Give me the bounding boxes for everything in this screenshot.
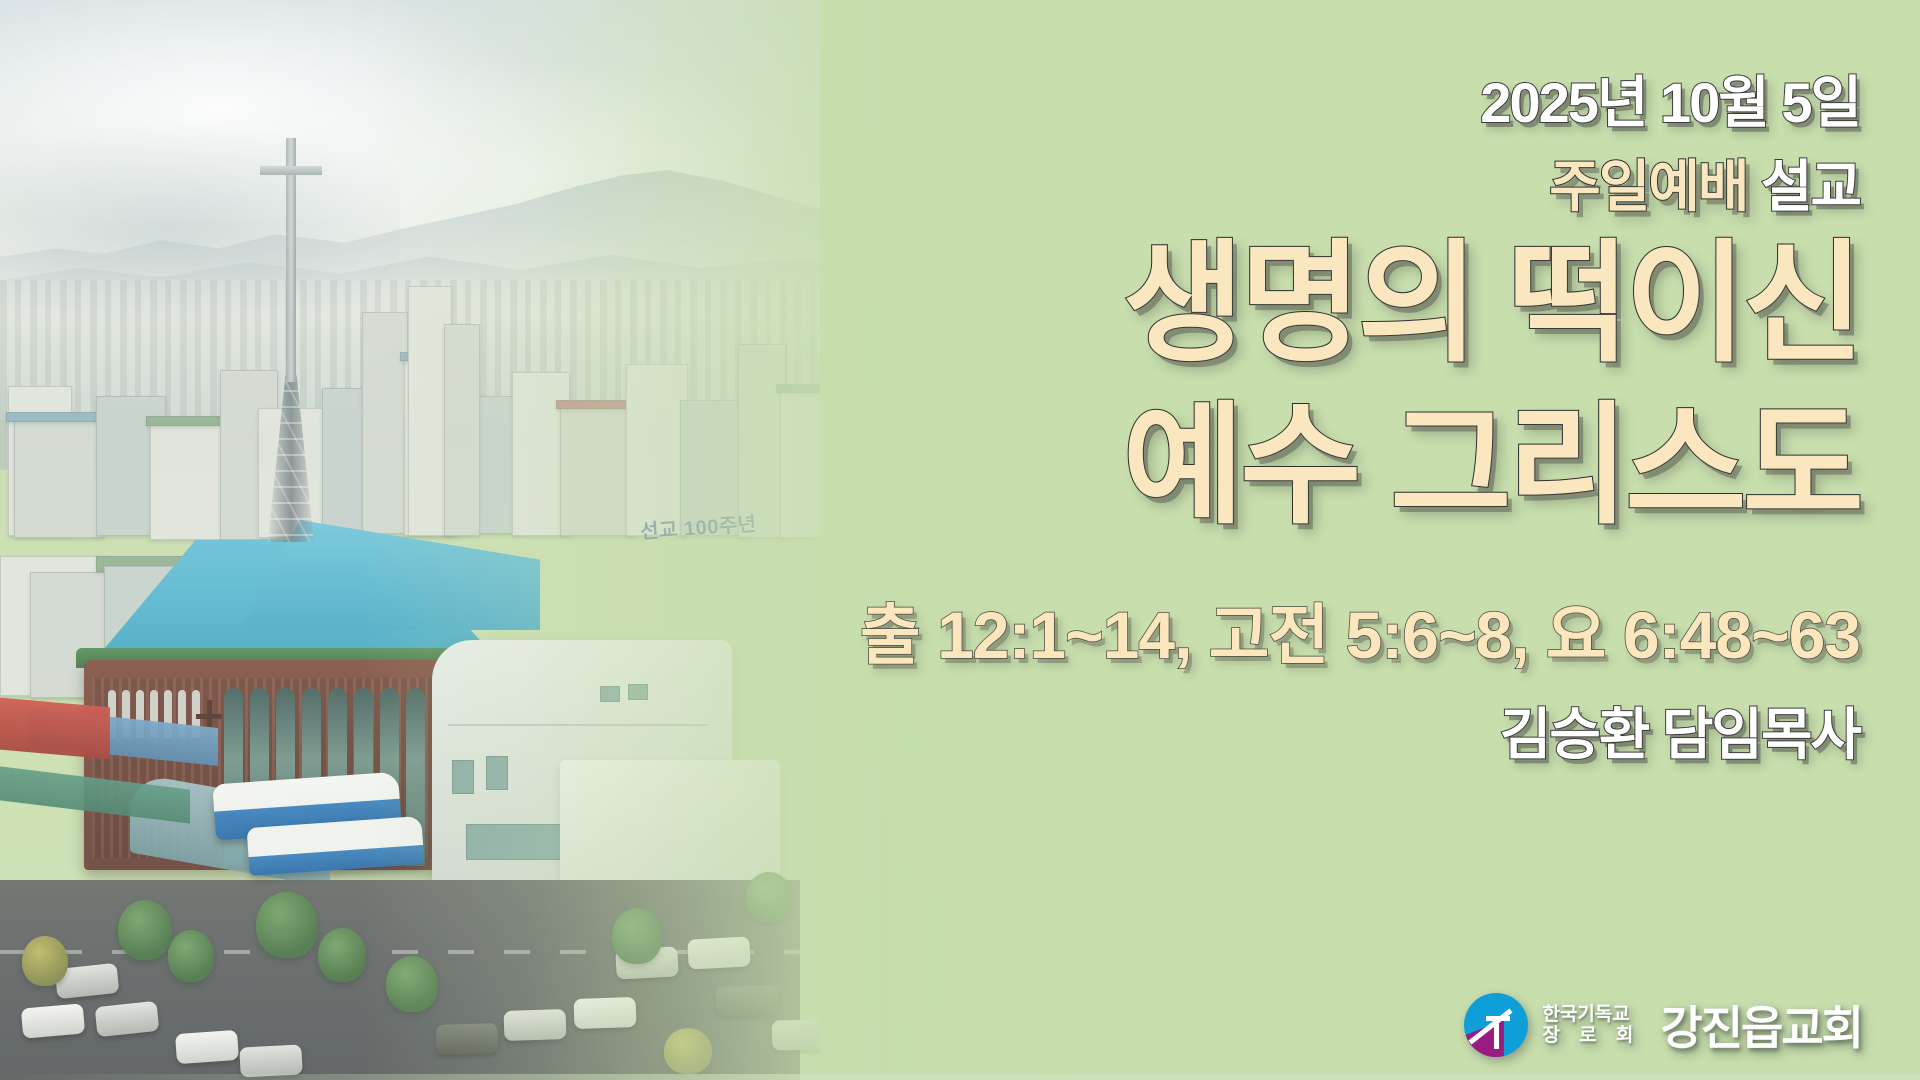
- preacher-name: 김승환 담임목사: [1500, 690, 1860, 771]
- service-date: 2025년 10월 5일: [1480, 58, 1860, 139]
- service-type-worship: 주일예배: [1549, 155, 1747, 218]
- service-type: 주일예배 설교: [1549, 142, 1860, 223]
- kpck-circle-logo-icon: [1464, 993, 1528, 1057]
- denomination-line-1: 한국기독교: [1542, 1005, 1640, 1024]
- denomination-text: 한국기독교 장 로 회: [1542, 1005, 1640, 1045]
- church-name: 강진읍교회: [1660, 992, 1862, 1058]
- sermon-title-line-1: 생명의 떡이신: [1123, 238, 1860, 370]
- scripture-reference: 출 12:1~14, 고전 5:6~8, 요 6:48~63: [860, 582, 1860, 678]
- service-type-sermon: 설교: [1761, 155, 1860, 218]
- sermon-title-line-2: 예수 그리스도: [1123, 400, 1860, 532]
- church-logo: 한국기독교 장 로 회 강진읍교회: [1464, 992, 1862, 1058]
- denomination-line-2: 장 로 회: [1542, 1026, 1640, 1045]
- sermon-title-card: 선교 100주년 2025년 10: [0, 0, 1920, 1080]
- text-layer: 2025년 10월 5일 주일예배 설교 생명의 떡이신 예수 그리스도 출 1…: [0, 0, 1920, 1080]
